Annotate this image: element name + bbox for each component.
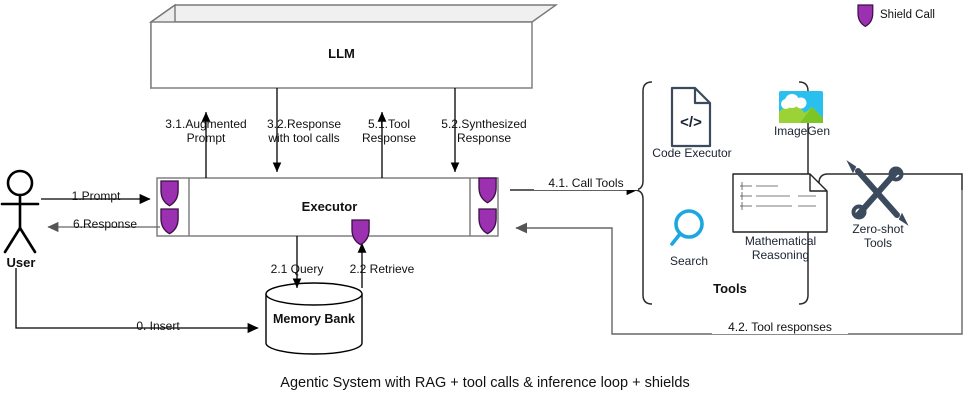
tool-label-code-executor: Code Executor (646, 146, 738, 160)
edge-label-synthesized-response: 5.2.Synthesized Response (421, 117, 547, 145)
code-document-icon: </> (672, 88, 710, 146)
tools-group-label: Tools (700, 282, 760, 296)
crossed-wrenches-icon (849, 163, 906, 223)
tool-label-zeroshot-tools: Zero-shot Tools (840, 222, 916, 250)
user-label: User (0, 256, 42, 270)
tool-label-search: Search (658, 254, 720, 268)
diagram-caption: Agentic System with RAG + tool calls & i… (0, 375, 970, 391)
edge-label-insert: 0. Insert (88, 319, 228, 333)
image-icon (779, 91, 823, 123)
llm-label: LLM (151, 47, 532, 61)
formula-document-icon (733, 174, 827, 232)
edge-label-tool-responses: 4.2. Tool responses (712, 320, 848, 334)
edge-label-response: 6.Response (52, 217, 158, 231)
diagram-canvas: </> (0, 0, 970, 411)
edge-label-call-tools: 4.1. Call Tools (534, 176, 638, 190)
magnifier-icon (672, 211, 702, 244)
tools-left-brace (634, 82, 652, 304)
shield-icon (352, 220, 369, 245)
tool-label-math-reasoning: Mathematical Reasoning (733, 234, 828, 262)
edge-label-prompt: 1.Prompt (46, 189, 146, 203)
edge-label-retrieve: 2.2 Retrieve (326, 262, 438, 276)
svg-text:</>: </> (680, 114, 702, 131)
tool-label-imagegen: ImageGen (760, 124, 844, 138)
executor-label: Executor (189, 200, 470, 214)
legend-label: Shield Call (880, 8, 968, 22)
legend-shield-icon (858, 5, 873, 26)
memory-bank-label: Memory Bank (264, 312, 364, 326)
user-figure (2, 171, 38, 252)
